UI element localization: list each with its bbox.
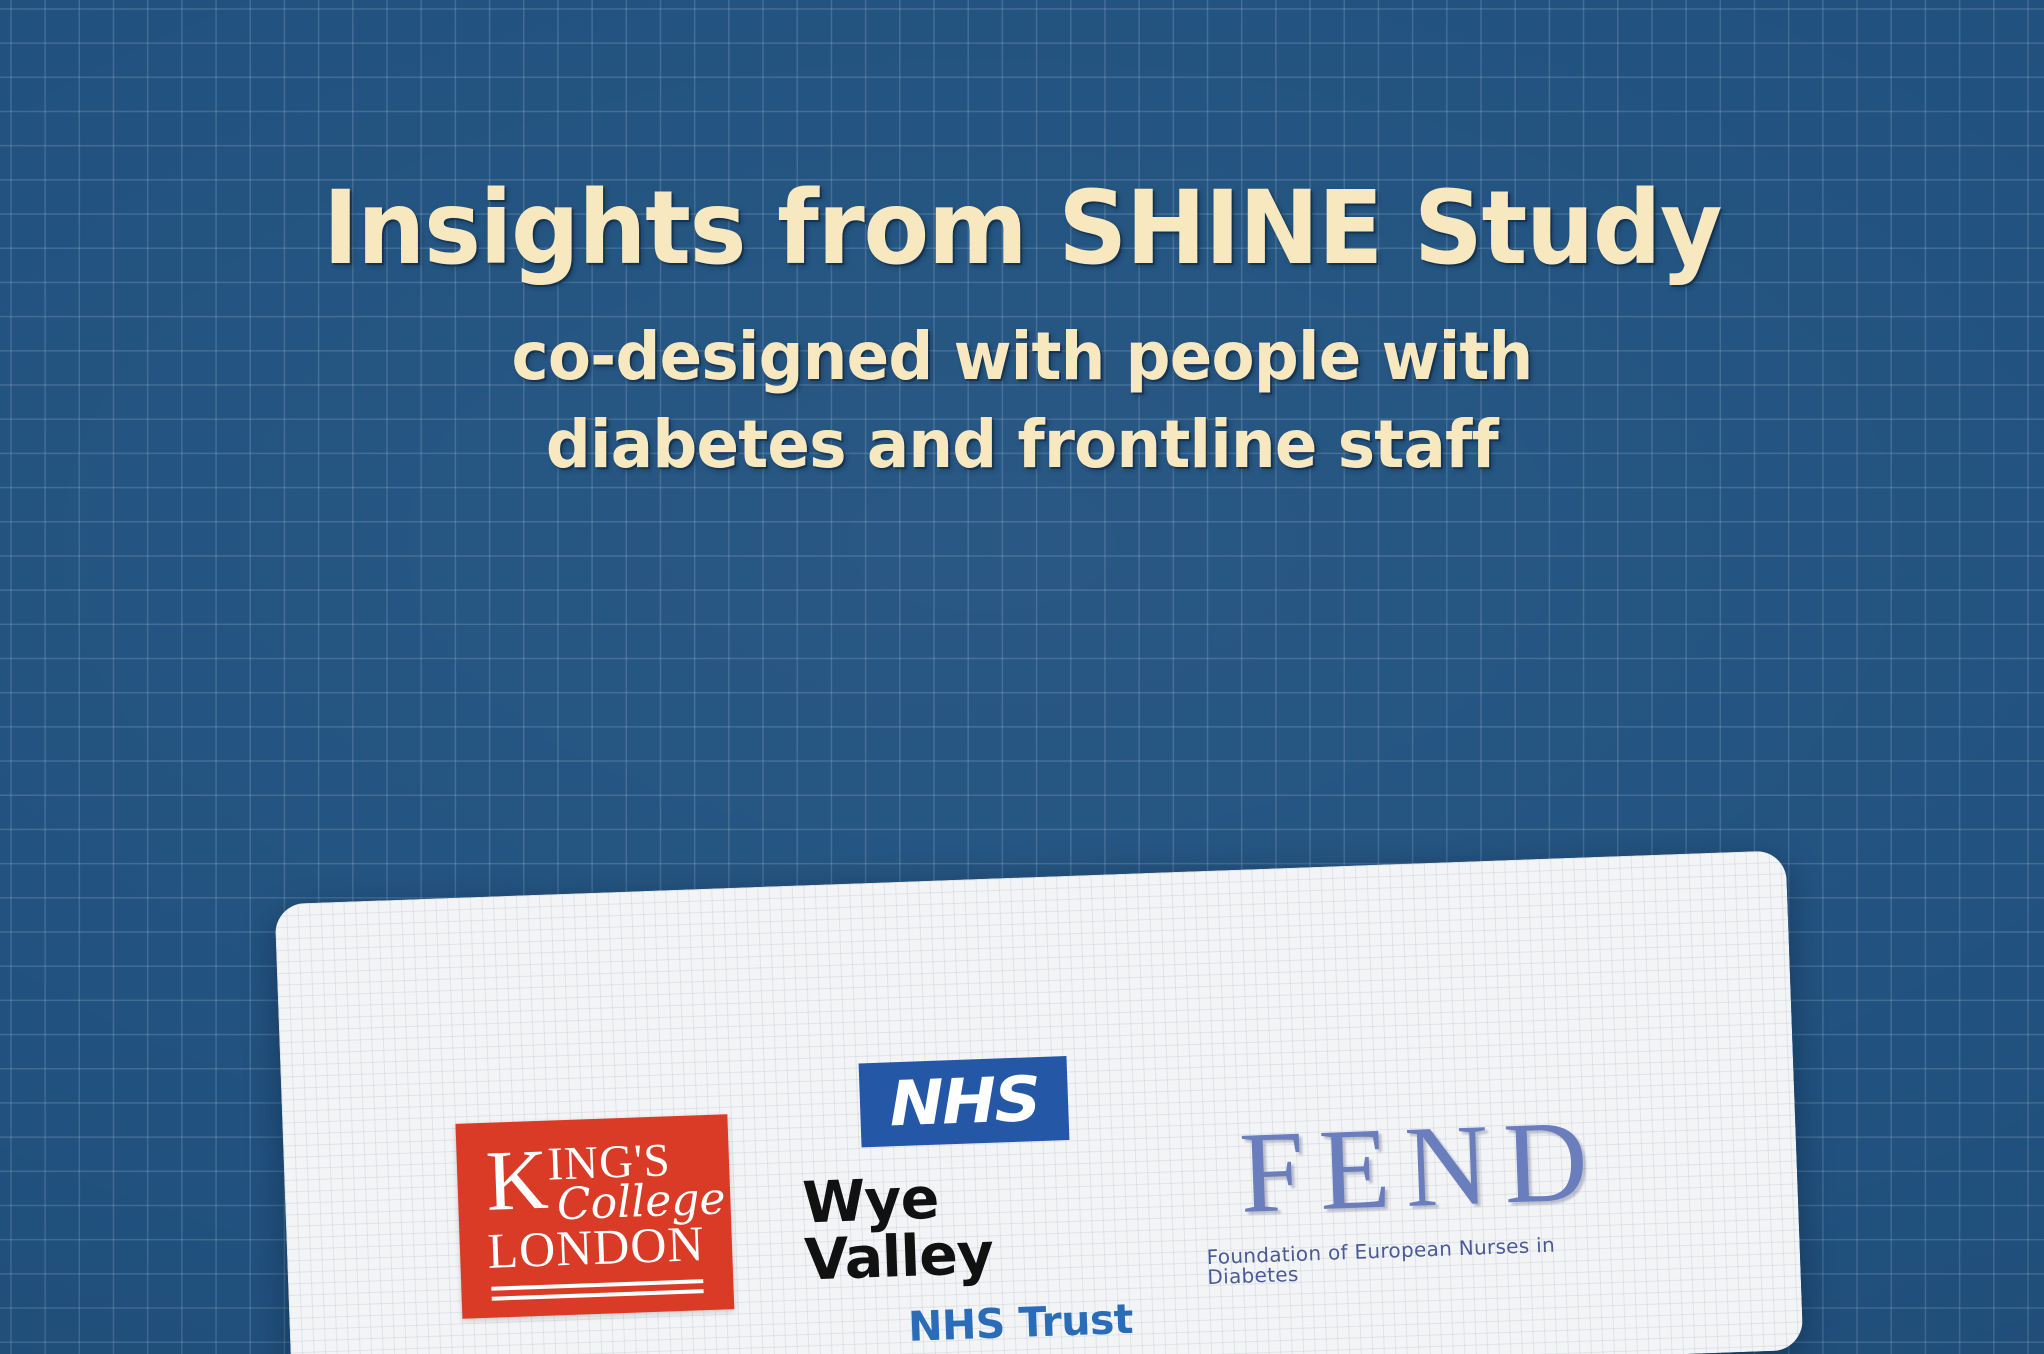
kings-college-london-logo: K ING'S College LONDON: [455, 1114, 734, 1319]
nhs-trust-name: Wye Valley: [802, 1164, 1136, 1290]
presentation-slide: Insights from SHINE Study co-designed wi…: [0, 0, 2044, 1354]
partner-logo-card-wrapper: K ING'S College LONDON NHS Wye Vall: [275, 850, 1804, 1354]
fend-tagline: Foundation of European Nurses in Diabete…: [1206, 1232, 1627, 1287]
partner-logo-row: K ING'S College LONDON NHS Wye Vall: [281, 1030, 1802, 1354]
slide-subtitle-line-1: co-designed with people with: [51, 324, 1993, 390]
nhs-badge: NHS: [859, 1056, 1070, 1147]
fend-logo: FEND Foundation of European Nurses in Di…: [1202, 1102, 1628, 1287]
kcl-college-text: College: [556, 1177, 726, 1227]
slide-title: Insights from SHINE Study: [61, 178, 1982, 280]
nhs-trust-subtitle: NHS Trust: [907, 1299, 1133, 1348]
slide-subtitle-line-2: diabetes and frontline staff: [51, 412, 1993, 478]
kcl-rule-top: [491, 1279, 703, 1291]
kcl-initial-k: K: [484, 1135, 549, 1223]
kcl-double-rule: [491, 1279, 704, 1307]
nhs-badge-label: NHS: [888, 1068, 1040, 1135]
wye-valley-nhs-trust-logo: NHS Wye Valley NHS Trust: [798, 1054, 1138, 1352]
fend-wordmark: FEND: [1223, 1103, 1605, 1232]
kcl-kings-college-group: K ING'S College: [484, 1126, 702, 1230]
kcl-rule-bottom: [492, 1289, 704, 1301]
partner-logo-card: K ING'S College LONDON NHS Wye Vall: [275, 850, 1804, 1354]
headline-block: Insights from SHINE Study co-designed wi…: [0, 178, 2044, 478]
